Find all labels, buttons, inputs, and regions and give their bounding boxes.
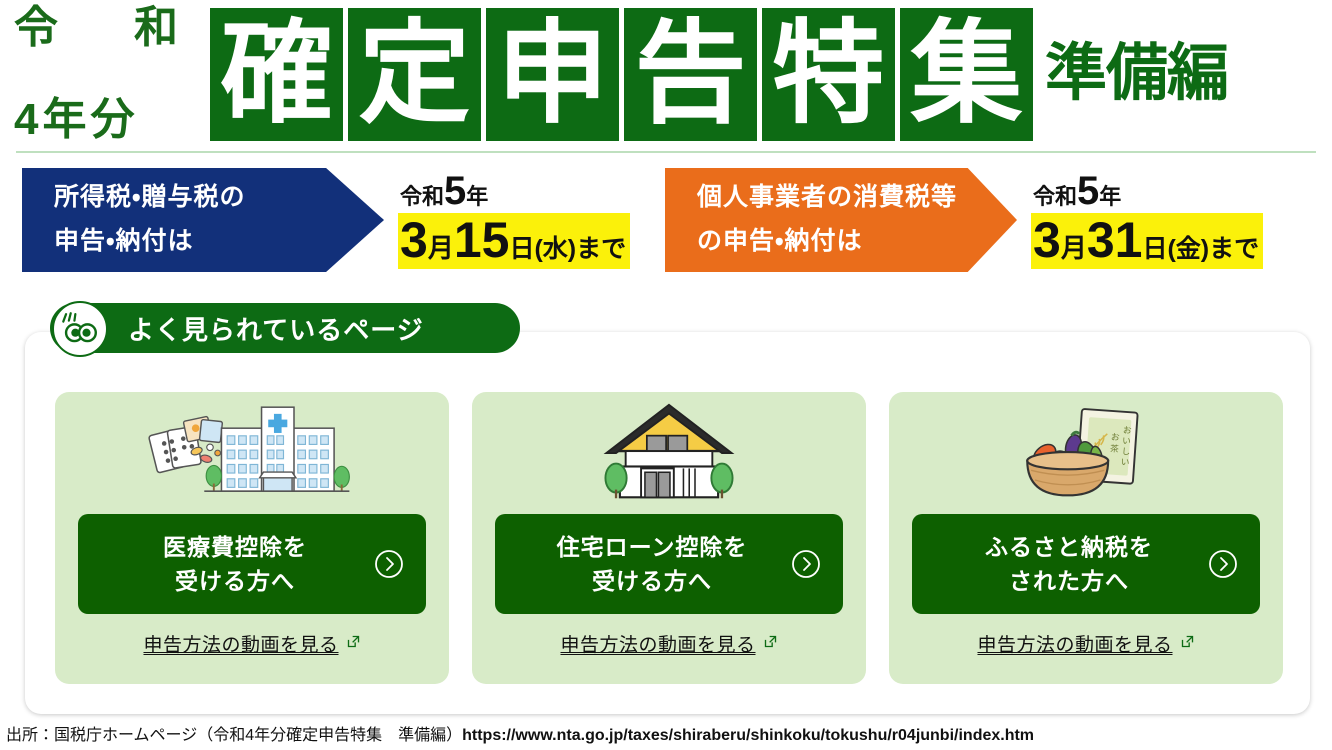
banner-month-unit: 月 (428, 235, 454, 261)
chevron-right-circle-icon (374, 549, 404, 579)
title-kanji-box: 告 (624, 8, 757, 141)
title-era: 令 和 4年分 (14, 0, 194, 188)
card-button-label: ふるさと納税を された方へ (985, 530, 1153, 599)
svg-text:い: い (1120, 458, 1129, 469)
card-link-label: 申告方法の動画を見る (143, 630, 338, 657)
title-kanji-box: 集 (900, 8, 1033, 141)
title-kanji-box: 特 (762, 8, 895, 141)
hospital-illustration (55, 392, 449, 514)
title-era-line2: 4年分 (14, 97, 194, 143)
title-kanji-box: 申 (486, 8, 619, 141)
house-illustration (472, 392, 866, 514)
source-caption: 出所：国税庁ホームページ（令和4年分確定申告特集 準備編）https://www… (6, 721, 1326, 745)
banner-era-unit: 年 (466, 186, 488, 208)
card-button-housing-loan-deduction[interactable]: 住宅ローン控除を 受ける方へ (495, 514, 843, 614)
chevron-right-circle-icon (1208, 549, 1238, 579)
banner-deadline-date: 3 月 31 日(金)まで (1031, 213, 1263, 269)
banner-date: 令和 5 年 3 月 31 日(金)まで (1031, 168, 1263, 272)
banner-month-number: 3 (400, 215, 428, 265)
banner-era-name: 令和 (1033, 186, 1077, 208)
card-video-link-furusato-nozei[interactable]: 申告方法の動画を見る (977, 630, 1194, 657)
external-link-icon (1180, 633, 1195, 655)
banner-month-number: 3 (1033, 215, 1061, 265)
banner-era-name: 令和 (400, 186, 444, 208)
card-video-link-medical-expense-deduction[interactable]: 申告方法の動画を見る (143, 630, 360, 657)
card-link-label: 申告方法の動画を見る (560, 630, 755, 657)
title-kanji-box: 定 (348, 8, 481, 141)
banner-day-tail: 日(水)まで (509, 237, 626, 262)
card-furusato-nozei[interactable]: おい しい お茶 (889, 392, 1283, 684)
title-suffix: 準備編 (1045, 43, 1228, 105)
svg-text:し: し (1121, 446, 1130, 458)
banner-label: 所得税・贈与税の 申告・納付は (54, 176, 246, 264)
card-button-furusato-nozei[interactable]: ふるさと納税を された方へ (912, 514, 1260, 614)
title-kanji-box: 確 (210, 8, 343, 141)
banner-month-unit: 月 (1061, 235, 1087, 261)
chevron-right-circle-icon (791, 549, 821, 579)
title-kanji-boxes: 確 定 申 告 特 集 (210, 8, 1033, 141)
banner-deadline-date: 3 月 15 日(水)まで (398, 213, 630, 269)
deadline-banner-consumption-tax: 個人事業者の消費税等 の申告・納付は 令和 5 年 3 月 31 日(金)まで (665, 168, 1263, 272)
title-era-line1: 令 和 (14, 5, 194, 51)
page-title: 令 和 4年分 確 定 申 告 特 集 準備編 (14, 4, 1324, 144)
svg-text:い: い (1122, 437, 1131, 448)
banner-day-tail: 日(金)まで (1142, 237, 1259, 262)
source-text: 出所：国税庁ホームページ（令和4年分確定申告特集 準備編） (6, 727, 462, 744)
svg-text:お: お (1111, 432, 1121, 444)
card-button-label: 住宅ローン控除を 受ける方へ (557, 530, 748, 599)
eyes-icon (52, 301, 108, 357)
banner-day-number: 31 (1087, 215, 1143, 265)
card-button-medical-expense-deduction[interactable]: 医療費控除を 受ける方へ (78, 514, 426, 614)
card-medical-expense-deduction[interactable]: 医療費控除を 受ける方へ 申告方法の動画を見る (55, 392, 449, 684)
banner-date: 令和 5 年 3 月 15 日(水)まで (398, 168, 630, 272)
page-root: 令 和 4年分 確 定 申 告 特 集 準備編 所得税・贈与税の 申告・納付は … (0, 0, 1332, 750)
card-video-link-housing-loan-deduction[interactable]: 申告方法の動画を見る (560, 630, 777, 657)
svg-text:お: お (1123, 425, 1133, 437)
banner-day-number: 15 (454, 215, 510, 265)
external-link-icon (346, 633, 361, 655)
banner-label: 個人事業者の消費税等 の申告・納付は (697, 176, 957, 264)
section-title: よく見られているページ (128, 310, 424, 347)
banner-era: 令和 5 年 (1031, 171, 1263, 211)
vegetable-basket-illustration: おい しい お茶 (889, 392, 1283, 514)
deadline-banner-income-gift-tax: 所得税・贈与税の 申告・納付は 令和 5 年 3 月 15 日(水)まで (22, 168, 630, 272)
section-header-popular-pages: よく見られているページ (50, 303, 520, 353)
banner-era-number: 5 (444, 171, 466, 211)
external-link-icon (763, 633, 778, 655)
banner-era: 令和 5 年 (398, 171, 630, 211)
svg-text:茶: 茶 (1110, 442, 1120, 455)
card-button-label: 医療費控除を 受ける方へ (163, 530, 307, 599)
card-housing-loan-deduction[interactable]: 住宅ローン控除を 受ける方へ 申告方法の動画を見る (472, 392, 866, 684)
card-link-label: 申告方法の動画を見る (977, 630, 1172, 657)
banner-arrow-shape: 所得税・贈与税の 申告・納付は (22, 168, 384, 272)
banner-era-number: 5 (1077, 171, 1099, 211)
banner-arrow-shape: 個人事業者の消費税等 の申告・納付は (665, 168, 1017, 272)
popular-pages-card-list: 医療費控除を 受ける方へ 申告方法の動画を見る (55, 392, 1283, 684)
title-divider (16, 151, 1316, 153)
source-url: https://www.nta.go.jp/taxes/shiraberu/sh… (462, 727, 1034, 744)
banner-era-unit: 年 (1099, 186, 1121, 208)
